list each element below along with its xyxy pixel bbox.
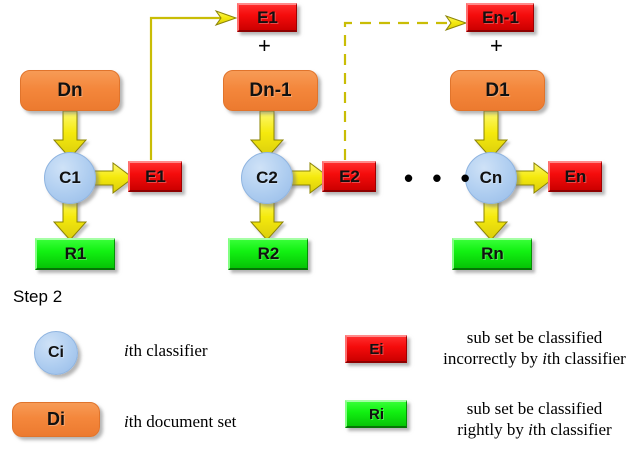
- legend-label-classifier: ith classifier: [124, 340, 208, 361]
- right-node-rn[interactable]: Rn: [452, 238, 532, 270]
- step-label: Step 2: [13, 287, 62, 307]
- error-node-e2[interactable]: E2: [322, 161, 376, 192]
- legend-label-right-subset: sub set be classifiedrightly by ith clas…: [442, 398, 627, 440]
- document-node-dn-1[interactable]: Dn-1: [223, 70, 318, 111]
- right-node-r2[interactable]: R2: [228, 238, 308, 270]
- arrow-c1-to-e1: [90, 163, 133, 193]
- arrow-dn-to-c1: [54, 111, 86, 158]
- error-node-top-col-n[interactable]: En-1: [466, 3, 534, 32]
- classifier-node-c1[interactable]: C1: [44, 152, 96, 204]
- legend-label-error-subset: sub set be classifiedincorrectly by ith …: [442, 327, 627, 369]
- arrow-d1-to-cn: [475, 111, 507, 158]
- error-node-e1[interactable]: E1: [128, 161, 182, 192]
- legend-symbol-right-subset: Ri: [345, 400, 407, 428]
- legend-symbol-error-subset: Ei: [345, 335, 407, 363]
- feedback-line-dashed: [345, 16, 466, 160]
- arrow-dn1-to-c2: [251, 111, 283, 158]
- document-node-d1[interactable]: D1: [450, 70, 545, 111]
- document-node-dn[interactable]: Dn: [20, 70, 120, 111]
- legend-symbol-document-set: Di: [12, 402, 100, 437]
- ellipsis-separator: • • •: [404, 163, 476, 194]
- classifier-node-c2[interactable]: C2: [241, 152, 293, 204]
- legend-label-document-set: ith document set: [124, 411, 236, 432]
- plus-sign-col-n: +: [490, 33, 503, 59]
- legend-symbol-classifier: Ci: [34, 331, 78, 375]
- right-node-r1[interactable]: R1: [35, 238, 115, 270]
- plus-sign-col-2: +: [258, 33, 271, 59]
- error-node-top-col-1[interactable]: E1: [237, 3, 297, 32]
- error-node-en[interactable]: En: [548, 161, 602, 192]
- diagram-connectors: [0, 0, 631, 452]
